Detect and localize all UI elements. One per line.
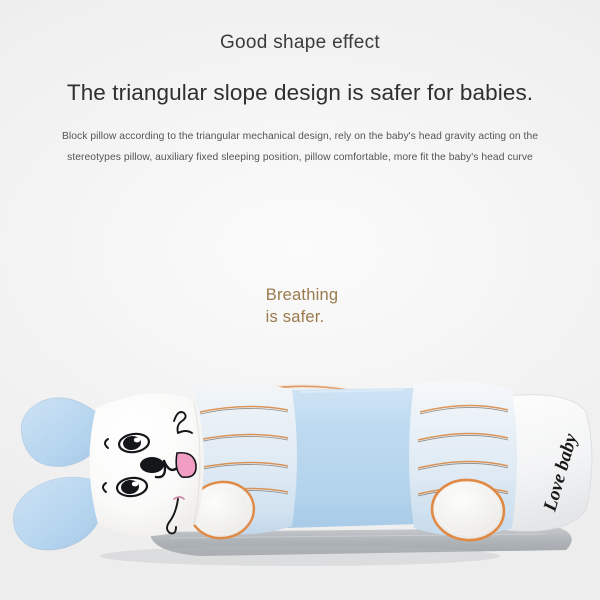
breathing-callout-line-1: Breathing (232, 284, 372, 306)
product-marketing-banner: Good shape effect The triangular slope d… (0, 0, 600, 600)
breathing-callout-line-2: is safer. (232, 306, 372, 328)
page-title: The triangular slope design is safer for… (0, 80, 600, 106)
bunny-face (78, 395, 218, 545)
eyebrow-text: Good shape effect (0, 32, 600, 54)
description-line-2: stereotypes pillow, auxiliary fixed slee… (18, 147, 582, 168)
description-line-1: Block pillow according to the triangular… (18, 126, 582, 147)
description-paragraph: Block pillow according to the triangular… (18, 126, 582, 168)
pillow-center-cushion (278, 388, 426, 528)
breathing-callout: Breathing is safer. (232, 284, 372, 328)
pillow-right-bolster (409, 381, 517, 544)
